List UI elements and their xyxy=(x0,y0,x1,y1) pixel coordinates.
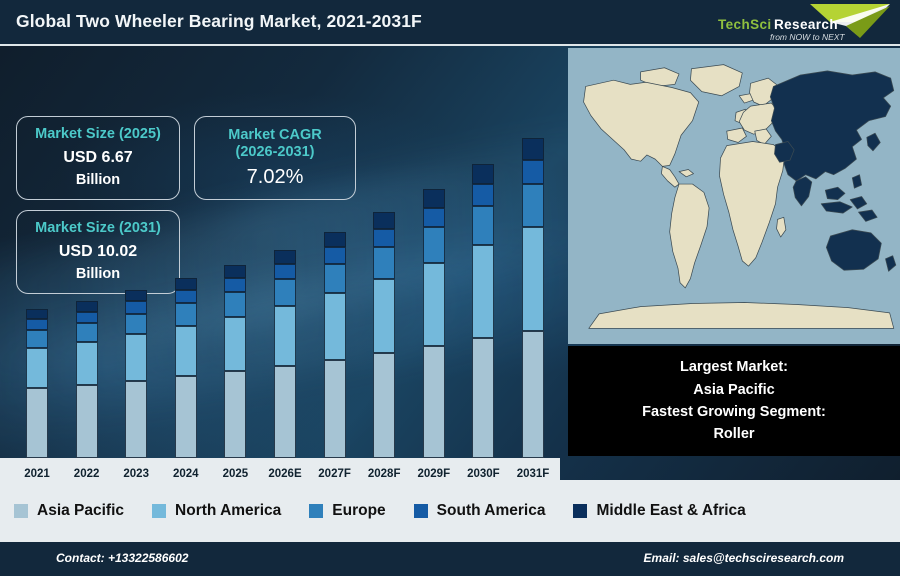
bar-segment xyxy=(175,376,197,458)
bar-segment xyxy=(522,331,544,458)
bar-segment xyxy=(175,290,197,303)
footer-bar: Contact: +13322586602 Email: sales@techs… xyxy=(0,542,900,576)
techsci-research-logo: TechSci Research from NOW to NEXT xyxy=(710,2,892,44)
legend-swatch-icon xyxy=(14,504,28,518)
bar-segment xyxy=(224,317,246,371)
bar-segment xyxy=(373,229,395,247)
bar-2025 xyxy=(224,265,246,458)
x-axis-label-2025: 2025 xyxy=(209,468,261,480)
bar-segment xyxy=(522,160,544,184)
bar-segment xyxy=(472,245,494,338)
world-map xyxy=(568,48,900,344)
bar-segment xyxy=(274,264,296,279)
fastest-segment-value: Roller xyxy=(713,423,754,445)
bar-segment xyxy=(324,247,346,264)
bar-segment xyxy=(224,371,246,458)
bar-segment xyxy=(423,189,445,207)
legend-item[interactable]: North America xyxy=(152,502,281,520)
bar-segment xyxy=(125,314,147,335)
bar-segment xyxy=(274,279,296,306)
bar-segment xyxy=(472,164,494,184)
legend-swatch-icon xyxy=(309,504,323,518)
page-title: Global Two Wheeler Bearing Market, 2021-… xyxy=(16,11,422,32)
bar-segment xyxy=(26,309,48,319)
svg-text:Research: Research xyxy=(774,17,838,32)
x-axis-label-2021: 2021 xyxy=(11,468,63,480)
largest-market-label: Largest Market: xyxy=(680,356,788,378)
bar-2031F xyxy=(522,138,544,458)
x-axis-label-2026E: 2026E xyxy=(259,468,311,480)
x-axis-label-2030F: 2030F xyxy=(457,468,509,480)
infographic-root: Global Two Wheeler Bearing Market, 2021-… xyxy=(0,0,900,576)
bar-segment xyxy=(274,306,296,366)
stacked-bar-plot: 202120222023202420252026E2027F2028F2029F… xyxy=(0,46,560,480)
bar-segment xyxy=(76,312,98,324)
bar-segment xyxy=(324,360,346,458)
header-bar: Global Two Wheeler Bearing Market, 2021-… xyxy=(0,0,900,46)
bar-2029F xyxy=(423,189,445,458)
x-axis-label-2029F: 2029F xyxy=(408,468,460,480)
bar-segment xyxy=(125,334,147,380)
bar-segment xyxy=(76,342,98,385)
legend-swatch-icon xyxy=(414,504,428,518)
bar-segment xyxy=(373,279,395,353)
legend-label: South America xyxy=(437,502,546,520)
legend-swatch-icon xyxy=(573,504,587,518)
bar-2030F xyxy=(472,164,494,458)
bar-segment xyxy=(423,263,445,346)
svg-text:TechSci: TechSci xyxy=(718,17,772,32)
bar-segment xyxy=(324,264,346,293)
bar-segment xyxy=(423,346,445,458)
bar-segment xyxy=(274,250,296,264)
bar-segment xyxy=(522,184,544,228)
legend-item[interactable]: South America xyxy=(414,502,546,520)
bar-segment xyxy=(175,326,197,376)
bar-2027F xyxy=(324,232,346,458)
legend-swatch-icon xyxy=(152,504,166,518)
x-axis-label-2028F: 2028F xyxy=(358,468,410,480)
bar-2023 xyxy=(125,290,147,458)
bar-2024 xyxy=(175,278,197,458)
bar-segment xyxy=(373,353,395,458)
footer-email: Email: sales@techsciresearch.com xyxy=(644,551,844,565)
bar-segment xyxy=(224,265,246,278)
chart-legend: Asia PacificNorth AmericaEuropeSouth Ame… xyxy=(0,480,900,542)
fastest-segment-label: Fastest Growing Segment: xyxy=(642,401,826,423)
bar-segment xyxy=(224,278,246,292)
bar-segment xyxy=(26,388,48,458)
legend-label: Middle East & Africa xyxy=(596,502,745,520)
bar-segment xyxy=(522,138,544,160)
bar-2028F xyxy=(373,212,395,458)
legend-item[interactable]: Middle East & Africa xyxy=(573,502,745,520)
highlight-panel: Largest Market: Asia Pacific Fastest Gro… xyxy=(568,346,900,456)
svg-text:from NOW to NEXT: from NOW to NEXT xyxy=(770,32,845,42)
bar-segment xyxy=(175,303,197,326)
bar-segment xyxy=(76,323,98,342)
bar-segment xyxy=(423,227,445,263)
bar-segment xyxy=(373,212,395,229)
bar-segment xyxy=(26,330,48,348)
bar-segment xyxy=(274,366,296,458)
x-axis-label-2027F: 2027F xyxy=(309,468,361,480)
legend-label: Asia Pacific xyxy=(37,502,124,520)
x-axis-label-2031F: 2031F xyxy=(507,468,559,480)
bar-segment xyxy=(224,292,246,316)
x-axis-label-2024: 2024 xyxy=(160,468,212,480)
bar-segment xyxy=(26,348,48,388)
footer-contact: Contact: +13322586602 xyxy=(56,551,188,565)
bar-segment xyxy=(26,319,48,330)
bar-segment xyxy=(125,301,147,313)
bar-2026E xyxy=(274,250,296,458)
legend-item[interactable]: Asia Pacific xyxy=(14,502,124,520)
bar-segment xyxy=(472,206,494,246)
bar-segment xyxy=(423,208,445,228)
bar-segment xyxy=(324,293,346,359)
largest-market-value: Asia Pacific xyxy=(693,379,774,401)
bar-segment xyxy=(175,278,197,290)
bar-segment xyxy=(324,232,346,247)
bar-segment xyxy=(76,301,98,311)
bar-segment xyxy=(125,290,147,301)
bar-2022 xyxy=(76,301,98,458)
bar-segment xyxy=(522,227,544,330)
bar-segment xyxy=(472,338,494,458)
bar-segment xyxy=(373,247,395,279)
bar-segment xyxy=(472,184,494,206)
bar-segment xyxy=(125,381,147,458)
legend-item[interactable]: Europe xyxy=(309,502,385,520)
x-axis-label-2023: 2023 xyxy=(110,468,162,480)
legend-label: Europe xyxy=(332,502,385,520)
bar-2021 xyxy=(26,309,48,458)
bar-segment xyxy=(76,385,98,458)
x-axis-label-2022: 2022 xyxy=(61,468,113,480)
legend-label: North America xyxy=(175,502,281,520)
